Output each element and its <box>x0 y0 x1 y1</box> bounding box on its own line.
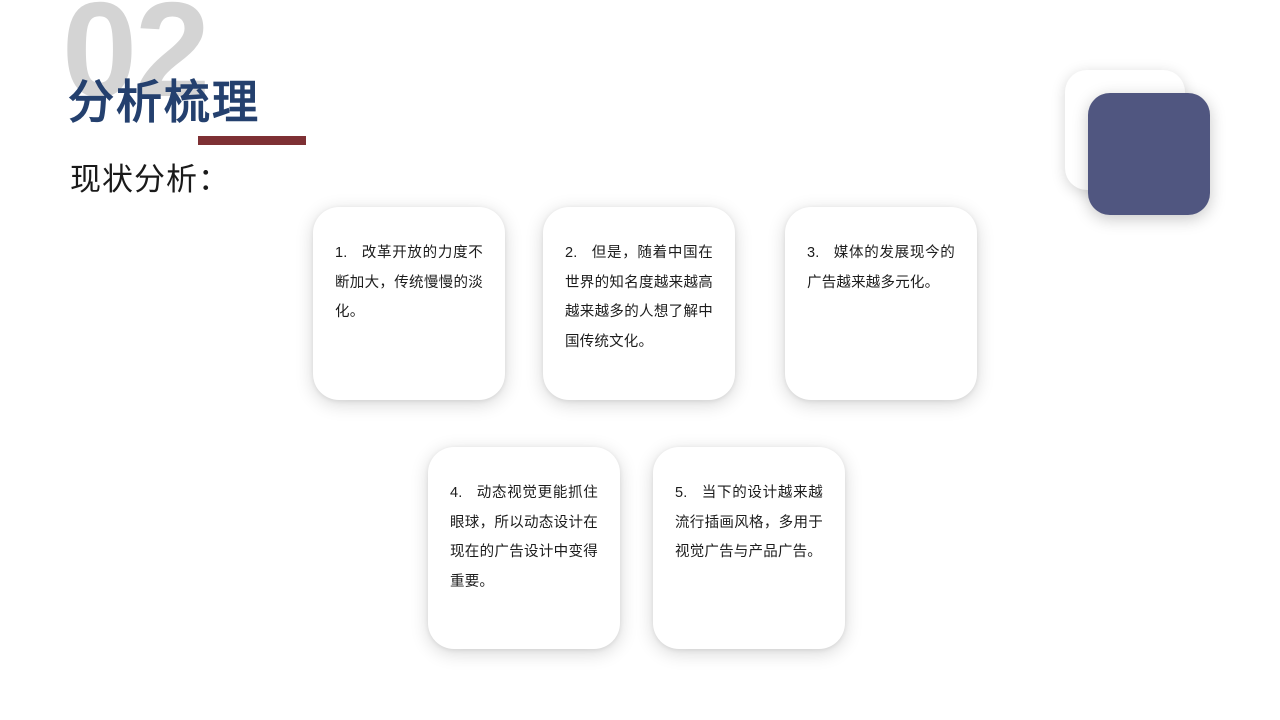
page-title: 分析梳理 <box>68 79 260 125</box>
decorative-square-blue <box>1088 93 1210 215</box>
content-card: 3. 媒体的发展现今的广告越来越多元化。 <box>785 207 977 400</box>
slide-canvas: 02 分析梳理 现状分析： 1. 改革开放的力度不断加大，传统慢慢的淡化。 2.… <box>0 0 1280 720</box>
decorative-squares-group <box>1060 65 1220 225</box>
card-text: 4. 动态视觉更能抓住眼球，所以动态设计在现在的广告设计中变得重要。 <box>450 479 598 598</box>
card-text: 1. 改革开放的力度不断加大，传统慢慢的淡化。 <box>335 239 483 328</box>
content-card: 2. 但是，随着中国在世界的知名度越来越高越来越多的人想了解中国传统文化。 <box>543 207 735 400</box>
content-card: 5. 当下的设计越来越流行插画风格，多用于视觉广告与产品广告。 <box>653 447 845 649</box>
card-text: 3. 媒体的发展现今的广告越来越多元化。 <box>807 239 955 298</box>
title-underline-bar <box>198 136 306 145</box>
card-text: 2. 但是，随着中国在世界的知名度越来越高越来越多的人想了解中国传统文化。 <box>565 239 713 358</box>
slide-header: 02 分析梳理 现状分析： <box>0 0 460 215</box>
card-text: 5. 当下的设计越来越流行插画风格，多用于视觉广告与产品广告。 <box>675 479 823 568</box>
content-card: 1. 改革开放的力度不断加大，传统慢慢的淡化。 <box>313 207 505 400</box>
content-card: 4. 动态视觉更能抓住眼球，所以动态设计在现在的广告设计中变得重要。 <box>428 447 620 649</box>
slide-subtitle: 现状分析： <box>70 160 230 200</box>
